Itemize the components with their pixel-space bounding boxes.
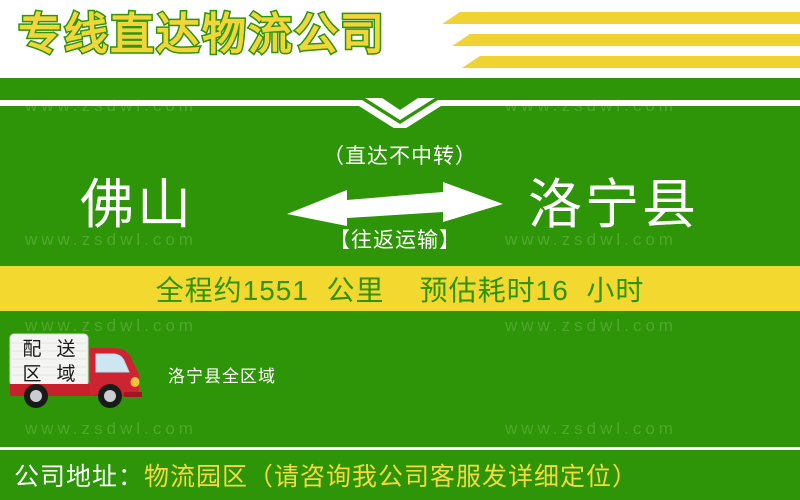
- logistics-route-banner: 专线直达物流公司 www.zsdwl.com www.zsdwl.com www…: [0, 0, 800, 500]
- banner-body: www.zsdwl.com www.zsdwl.com www.zsdwl.co…: [0, 78, 800, 500]
- footer: 公司地址： 物流园区（请咨询我公司客服发详细定位）: [0, 450, 800, 500]
- truck-box-char-3: 区: [22, 363, 41, 385]
- delivery-area-text: 洛宁县全区域: [168, 362, 276, 387]
- banner-header: 专线直达物流公司: [0, 0, 800, 78]
- direct-transport-note: （直达不中转）: [0, 140, 800, 170]
- origin-city: 佛山: [80, 178, 194, 232]
- distance-bar: 全程约1551 公里 预估耗时16 小时: [0, 266, 800, 311]
- company-address-value: 物流园区（请咨询我公司客服发详细定位）: [144, 457, 638, 493]
- chevron-down-icon: [0, 98, 800, 128]
- truck-box-char-1: 配: [22, 338, 41, 360]
- stripe-3: [462, 56, 800, 68]
- roundtrip-label: 【往返运输】: [275, 224, 515, 254]
- watermark: www.zsdwl.com: [505, 419, 677, 439]
- company-title: 专线直达物流公司: [18, 6, 386, 64]
- watermark: www.zsdwl.com: [25, 419, 197, 439]
- company-address-label: 公司地址：: [14, 457, 144, 493]
- destination-city: 洛宁县: [528, 178, 699, 232]
- delivery-truck-icon: 配 送 区 域: [6, 330, 166, 410]
- truck-box-char-4: 域: [56, 363, 75, 385]
- distance-text: 全程约1551 公里 预估耗时16 小时: [156, 269, 645, 309]
- truck-box-char-2: 送: [56, 338, 75, 360]
- decorative-stripes: [424, 12, 800, 68]
- stripe-2: [452, 34, 800, 46]
- double-arrow-horizontal-icon: [285, 178, 505, 226]
- watermark: www.zsdwl.com: [505, 316, 677, 336]
- stripe-1: [442, 12, 800, 24]
